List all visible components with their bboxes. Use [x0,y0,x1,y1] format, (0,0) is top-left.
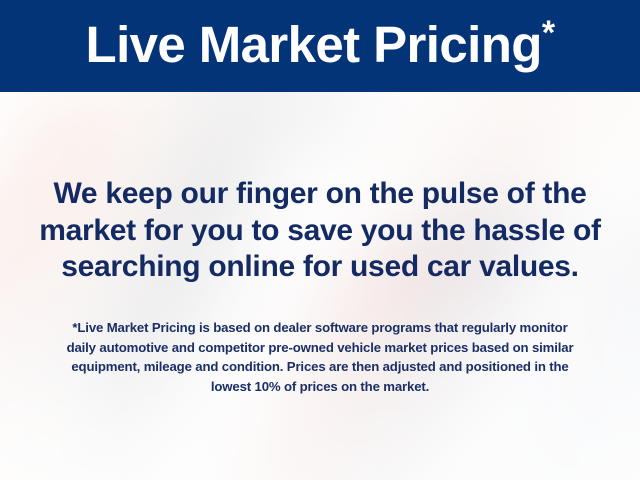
disclaimer-line: equipment, mileage and condition. Prices… [34,357,606,377]
headline: We keep our finger on the pulse of the m… [0,176,640,286]
disclaimer-line: *Live Market Pricing is based on dealer … [34,318,606,338]
headline-line: market for you to save you the hassle of [16,213,624,250]
disclaimer: *Live Market Pricing is based on dealer … [0,318,640,396]
headline-line: searching online for used car values. [16,249,624,286]
page-title-asterisk: * [542,14,555,52]
header-banner: Live Market Pricing* [0,0,640,92]
page-title: Live Market Pricing* [86,19,555,74]
page-title-text: Live Market Pricing [86,16,542,73]
live-market-pricing-ad: Live Market Pricing* We keep our finger … [0,0,640,480]
disclaimer-line: daily automotive and competitor pre-owne… [34,338,606,358]
headline-line: We keep our finger on the pulse of the [16,176,624,213]
disclaimer-line: lowest 10% of prices on the market. [34,377,606,397]
